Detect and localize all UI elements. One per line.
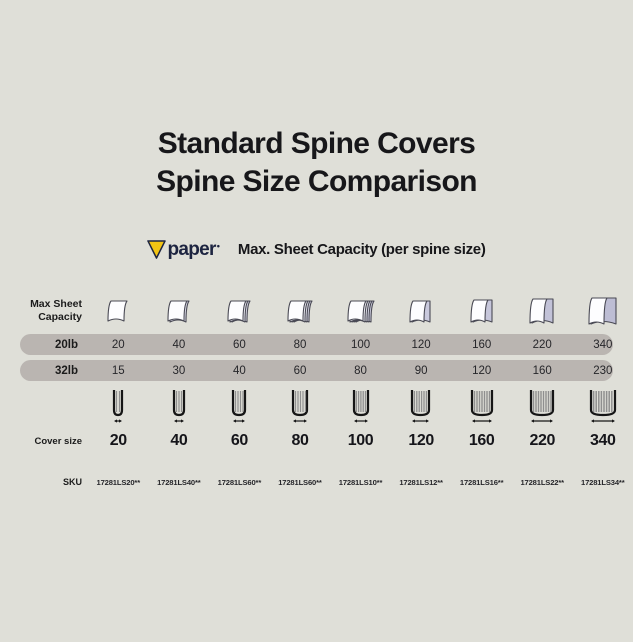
paper-stack-icon <box>102 291 134 331</box>
spine-comb-icon <box>463 386 501 426</box>
cover-size-cell: 340 <box>573 432 633 450</box>
max-sheet-capacity-label-line1: Max Sheet <box>0 298 82 311</box>
capacity-cell-32lb: 160 <box>512 365 573 377</box>
sku-row: SKU 17281LS20** 17281LS40** 17281LS60** … <box>0 474 633 490</box>
paper-icon-cell <box>451 291 512 331</box>
max-sheet-capacity-label: Max Sheet Capacity <box>0 298 88 324</box>
paper-icon-cell <box>149 291 210 331</box>
paper-icon-cell <box>391 291 452 331</box>
capacity-cell-32lb: 40 <box>209 365 270 377</box>
spine-icon-cell <box>149 386 210 426</box>
capacity-cell-32lb: 80 <box>330 365 391 377</box>
page-title: Standard Spine Covers Spine Size Compari… <box>0 125 633 201</box>
spine-comb-icon <box>344 386 378 426</box>
sku-cell: 17281LS10** <box>330 478 391 487</box>
capacity-cell-20lb: 100 <box>330 339 391 351</box>
paper-stack-icon <box>223 291 255 331</box>
cover-size-cells: 20 40 60 80 100 120 160 220 340 <box>88 432 633 450</box>
paper-icon-cell <box>209 291 270 331</box>
spine-comb-icon <box>223 386 255 426</box>
cover-size-row: Cover size 20 40 60 80 100 120 160 220 3… <box>0 430 633 452</box>
paper-icon-cell <box>88 291 149 331</box>
spine-icon-cell <box>391 386 452 426</box>
max-sheet-capacity-header-row: Max Sheet Capacity <box>0 288 633 334</box>
max-sheet-capacity-label-line2: Capacity <box>0 311 82 324</box>
paper-stack-icon <box>465 291 499 331</box>
paper-stack-icon <box>343 291 379 331</box>
capacity-row-20lb-label: 20lb <box>0 339 88 351</box>
sku-cell: 17281LS20** <box>88 478 149 487</box>
capacity-cell-32lb: 60 <box>270 365 331 377</box>
capacity-cell-20lb: 40 <box>149 339 210 351</box>
sku-cell: 17281LS12** <box>391 478 452 487</box>
capacity-cell-20lb: 80 <box>270 339 331 351</box>
spine-comb-icon <box>523 386 561 426</box>
paper-stack-icon <box>583 291 623 331</box>
capacity-cell-20lb: 60 <box>209 339 270 351</box>
capacity-cell-20lb: 340 <box>573 339 633 351</box>
paper-icon-cells <box>88 291 633 331</box>
title-line-2: Spine Size Comparison <box>0 163 633 201</box>
sku-cell: 17281LS40** <box>149 478 210 487</box>
spine-icon-cell <box>270 386 331 426</box>
spine-icon-cell <box>512 386 573 426</box>
spine-icon-cell <box>88 386 149 426</box>
capacity-subtitle: Max. Sheet Capacity (per spine size) <box>238 241 486 258</box>
sku-cell: 17281LS34** <box>573 478 633 487</box>
cover-size-cell: 160 <box>451 432 512 450</box>
sku-cell: 17281LS60** <box>270 478 331 487</box>
capacity-cell-20lb: 20 <box>88 339 149 351</box>
spine-icon-row <box>0 386 633 426</box>
vpaper-logo: paper • <box>147 240 219 259</box>
capacity-row-32lb-label: 32lb <box>0 365 88 377</box>
cover-size-cell: 20 <box>88 432 149 450</box>
capacity-cell-32lb: 30 <box>149 365 210 377</box>
paper-stack-icon <box>404 291 438 331</box>
paper-stack-icon <box>524 291 560 331</box>
paper-stack-icon <box>283 291 317 331</box>
sku-cells: 17281LS20** 17281LS40** 17281LS60** 1728… <box>88 478 633 487</box>
sku-cell: 17281LS22** <box>512 478 573 487</box>
capacity-cell-32lb: 15 <box>88 365 149 377</box>
spine-comb-icon <box>583 386 623 426</box>
paper-icon-cell <box>270 291 331 331</box>
spine-comb-icon <box>103 386 133 426</box>
capacity-cell-32lb: 230 <box>573 365 633 377</box>
spine-icon-cell <box>209 386 270 426</box>
spine-icon-cell <box>451 386 512 426</box>
brand-row: paper • Max. Sheet Capacity (per spine s… <box>0 240 633 259</box>
capacity-cell-20lb: 220 <box>512 339 573 351</box>
spine-comb-icon <box>283 386 317 426</box>
cover-size-cell: 120 <box>391 432 452 450</box>
logo-wordmark: paper <box>167 240 215 259</box>
spine-comb-icon <box>164 386 194 426</box>
paper-icon-cell <box>512 291 573 331</box>
capacity-row-32lb-content: 32lb 15 30 40 60 80 90 120 160 230 <box>0 360 633 381</box>
capacity-cell-32lb: 120 <box>451 365 512 377</box>
cover-size-cell: 100 <box>330 432 391 450</box>
capacity-cell-20lb: 120 <box>391 339 452 351</box>
capacity-row-20lb-cells: 20 40 60 80 100 120 160 220 340 <box>88 339 633 351</box>
paper-icon-cell <box>573 291 633 331</box>
capacity-cell-32lb: 90 <box>391 365 452 377</box>
sku-label: SKU <box>0 477 88 487</box>
capacity-row-32lb-cells: 15 30 40 60 80 90 120 160 230 <box>88 365 633 377</box>
logo-v-icon <box>147 240 166 259</box>
spine-comb-icon <box>403 386 439 426</box>
cover-size-cell: 220 <box>512 432 573 450</box>
paper-stack-icon <box>163 291 195 331</box>
cover-size-cell: 40 <box>149 432 210 450</box>
capacity-row-20lb-content: 20lb 20 40 60 80 100 120 160 220 340 <box>0 334 633 355</box>
paper-icon-cell <box>330 291 391 331</box>
capacity-cell-20lb: 160 <box>451 339 512 351</box>
logo-trademark-icon: • <box>217 241 220 251</box>
sku-cell: 17281LS16** <box>451 478 512 487</box>
capacity-row-32lb: 32lb 15 30 40 60 80 90 120 160 230 <box>0 360 633 381</box>
title-line-1: Standard Spine Covers <box>0 125 633 163</box>
spine-icon-cells <box>88 386 633 426</box>
spine-icon-cell <box>330 386 391 426</box>
cover-size-label: Cover size <box>0 436 88 447</box>
spine-icon-cell <box>573 386 633 426</box>
cover-size-cell: 60 <box>209 432 270 450</box>
sku-cell: 17281LS60** <box>209 478 270 487</box>
cover-size-cell: 80 <box>270 432 331 450</box>
capacity-row-20lb: 20lb 20 40 60 80 100 120 160 220 340 <box>0 334 633 355</box>
